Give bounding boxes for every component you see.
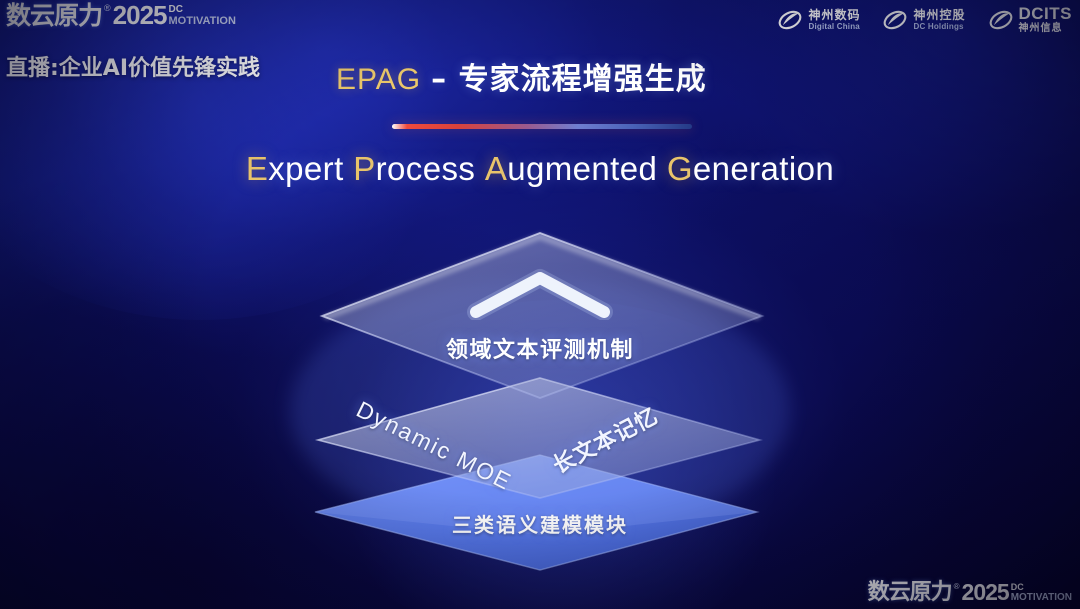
- layer-middle-label-left: Dynamic MOE: [352, 396, 516, 496]
- chevron-up-icon: [466, 268, 614, 320]
- swoosh-icon: [988, 8, 1014, 32]
- partner-logos: 神州数码 Digital China 神州控股 DC Holdings DCIT…: [777, 5, 1072, 34]
- partner-logo-dcits: DCITS 神州信息: [988, 5, 1073, 34]
- page-title-dash: –: [431, 62, 447, 97]
- watermark-registered-mark: ®: [954, 580, 960, 593]
- layer-middle: [318, 378, 760, 498]
- subtitle-cap-3: G: [667, 150, 693, 187]
- partner-en-name: DC Holdings: [913, 23, 965, 31]
- watermark-dc-motivation: DC MOTIVATION: [1011, 580, 1072, 603]
- layer-top-label: 领域文本评测机制: [0, 332, 1080, 364]
- brand-logo-cn: 数云原力: [6, 2, 102, 30]
- slide-canvas: 数云原力 ® 2025 DC MOTIVATION 直播:企业AI价值先锋实践 …: [0, 0, 1080, 609]
- subtitle-rest-1: rocess: [376, 150, 476, 187]
- live-stream-title: 直播:企业AI价值先锋实践: [6, 50, 260, 82]
- brand-logo-dc: DC: [169, 5, 236, 15]
- brand-logo-registered-mark: ®: [104, 2, 111, 15]
- partner-text-digital-china: 神州数码 Digital China: [808, 9, 860, 31]
- partner-en-name: DCITS: [1019, 5, 1073, 22]
- page-title: EPAG – 专家流程增强生成: [336, 54, 707, 98]
- partner-cn-name: 神州控股: [913, 9, 965, 21]
- watermark-motivation: MOTIVATION: [1011, 593, 1072, 603]
- page-title-chinese: – 专家流程增强生成: [431, 54, 706, 98]
- subtitle-rest-0: xpert: [268, 150, 343, 187]
- watermark-logo: 数云原力 ® 2025 DC MOTIVATION: [868, 580, 1072, 605]
- page-title-cn-text: 专家流程增强生成: [459, 62, 707, 97]
- partner-en-name: Digital China: [808, 23, 860, 31]
- swoosh-icon: [882, 8, 908, 32]
- watermark-cn: 数云原力: [868, 580, 952, 605]
- page-title-acronym: EPAG: [336, 63, 421, 97]
- layer-middle-label-right: 长文本记忆: [546, 399, 663, 480]
- layer-bottom-label: 三类语义建模模块: [0, 509, 1080, 538]
- gradient-divider: [392, 124, 692, 129]
- brand-logo-motivation: MOTIVATION: [169, 16, 236, 27]
- subtitle-cap-0: E: [246, 150, 268, 187]
- brand-logo-year: 2025: [113, 2, 167, 29]
- swoosh-icon: [777, 8, 803, 32]
- brand-logo: 数云原力 ® 2025 DC MOTIVATION: [6, 2, 236, 30]
- partner-logo-digital-china: 神州数码 Digital China: [777, 8, 860, 32]
- partner-cn-name: 神州数码: [808, 9, 860, 21]
- subtitle-rest-3: eneration: [693, 150, 834, 187]
- watermark-dc: DC: [1011, 583, 1072, 592]
- subtitle-cap-1: P: [353, 150, 375, 187]
- brand-logo-dc-motivation: DC MOTIVATION: [169, 2, 236, 27]
- partner-logo-dc-holdings: 神州控股 DC Holdings: [882, 8, 965, 32]
- partner-cn-name: 神州信息: [1019, 24, 1073, 34]
- layer-middle-shape: [318, 378, 760, 498]
- page-subtitle: Expert Process Augmented Generation: [0, 150, 1080, 188]
- partner-text-dcits: DCITS 神州信息: [1019, 5, 1073, 34]
- partner-text-dc-holdings: 神州控股 DC Holdings: [913, 9, 965, 31]
- watermark-year: 2025: [962, 580, 1009, 604]
- subtitle-cap-2: A: [485, 150, 507, 187]
- subtitle-rest-2: ugmented: [507, 150, 657, 187]
